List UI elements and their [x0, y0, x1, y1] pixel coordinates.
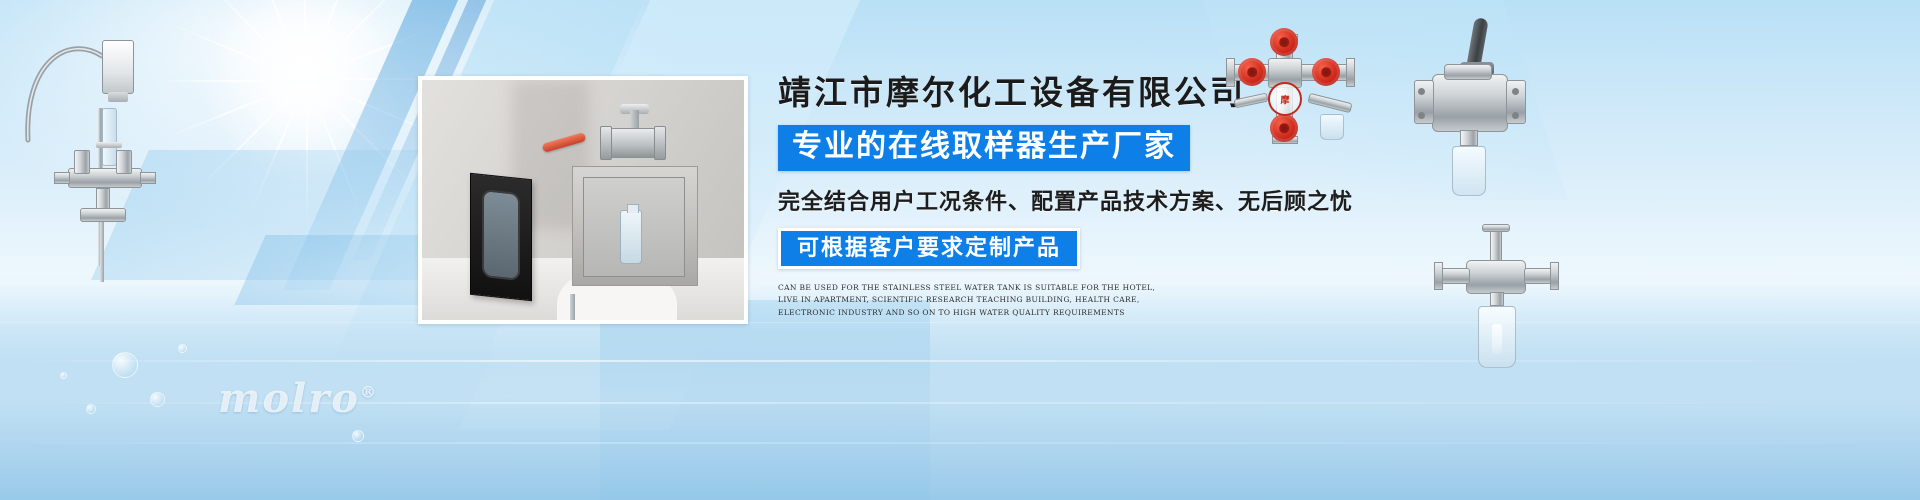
watermark-logo: molro® — [218, 375, 378, 422]
glass-bottle-icon — [1452, 146, 1486, 196]
seal-text: 摩 — [1280, 93, 1289, 106]
bubble-decoration — [60, 372, 67, 379]
promo-banner: 靖江市摩尔化工设备有限公司 专业的在线取样器生产厂家 完全结合用户工况条件、配置… — [0, 0, 1920, 500]
left-equipment-image — [10, 22, 160, 292]
tagline-text: 专业的在线取样器生产厂家 — [792, 130, 1176, 163]
custom-badge-text: 可根据客户要求定制产品 — [797, 235, 1061, 260]
red-handwheel-icon — [1238, 58, 1266, 86]
watermark-text: molro — [218, 375, 360, 422]
bubble-decoration — [150, 392, 165, 407]
red-handwheel-icon — [1270, 114, 1298, 142]
right-bottom-sampler-image — [1440, 228, 1560, 398]
bubble-decoration — [112, 352, 138, 378]
red-handwheel-icon — [1270, 28, 1298, 56]
english-caption: CAN BE USED FOR THE STAINLESS STEEL WATE… — [778, 282, 1176, 319]
bubble-decoration — [352, 430, 364, 442]
center-product-photo — [418, 76, 748, 324]
right-lever-valve-image — [1408, 18, 1528, 218]
watermark-registered-mark: ® — [360, 383, 378, 402]
company-seal-stamp: 摩 — [1268, 82, 1302, 116]
right-cross-valve-image: 摩 — [1216, 30, 1366, 150]
horizon-line — [0, 322, 1920, 323]
red-handwheel-icon — [1312, 58, 1340, 86]
bubble-decoration — [86, 404, 96, 414]
bubble-decoration — [178, 344, 187, 353]
subline-text: 完全结合用户工况条件、配置产品技术方案、无后顾之忧 — [778, 184, 1398, 216]
custom-badge[interactable]: 可根据客户要求定制产品 — [778, 228, 1080, 269]
tagline-highlight-band: 专业的在线取样器生产厂家 — [778, 125, 1190, 171]
